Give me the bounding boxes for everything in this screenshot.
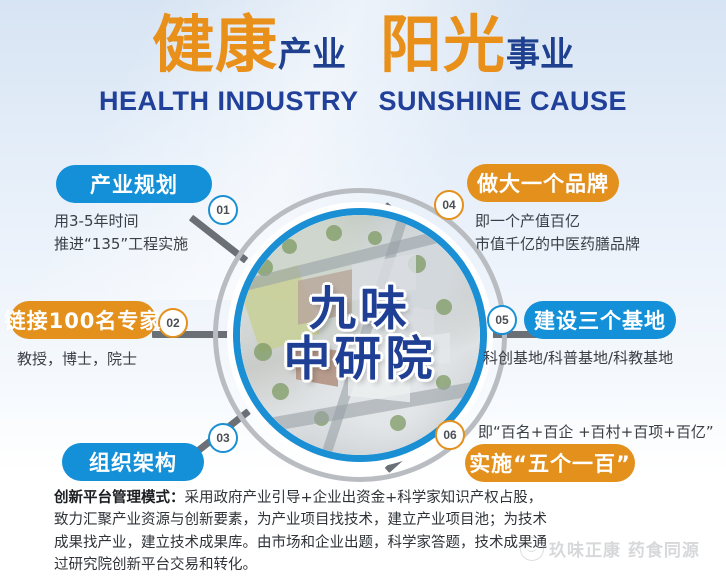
node-caption-01-line-2: 推进“135”工程实施 [54, 233, 188, 256]
photo-tree [254, 343, 272, 361]
node-caption-05-line-1: 科创基地/科普基地/科教基地 [483, 347, 673, 370]
aerial-campus-photo [240, 215, 480, 455]
footer-line-1-rest: 采用政府产业引导+企业出资金+科学家知识产权占股， [185, 490, 543, 506]
node-badge-01-label: 01 [216, 203, 229, 217]
node-badge-02-label: 02 [166, 316, 179, 330]
subtitle-right: SUNSHINE CAUSE [378, 86, 627, 116]
photo-tree [436, 299, 452, 315]
node-caption-06-line-1: 即“百名+百企 +百村+百项+百亿” [478, 421, 714, 444]
subtitle-left: HEALTH INDUSTRY [99, 86, 359, 116]
title-big-2: 阳光 [380, 8, 506, 81]
node-badge-05[interactable]: 05 [487, 305, 517, 335]
node-caption-04-line-2: 市值千亿的中医药膳品牌 [475, 233, 640, 256]
node-caption-01-line-1: 用3-5年时间 [54, 210, 139, 233]
photo-tree [282, 239, 297, 254]
photo-building [416, 333, 450, 368]
footer-line-3: 成果找产业，建立技术成果库。由市场和企业出题，科学家答题，技术成果通 [54, 532, 694, 554]
node-pill-06-label: 实施“五个一百” [469, 448, 631, 478]
photo-tree [326, 225, 342, 241]
node-caption-04-line-1: 即一个产值百亿 [475, 210, 580, 233]
photo-building [348, 338, 410, 403]
node-caption-02-line-1: 教授，博士，院士 [17, 348, 137, 371]
node-pill-02-label: 链接100名专家 [5, 305, 162, 335]
node-badge-06-label: 06 [443, 428, 456, 442]
title-big-1: 健康 [152, 8, 278, 81]
node-pill-06[interactable]: 实施“五个一百” [465, 444, 635, 482]
node-badge-05-label: 05 [495, 313, 508, 327]
photo-tree [368, 231, 382, 245]
node-pill-03[interactable]: 组织架构 [62, 443, 204, 481]
photo-tree [272, 383, 289, 400]
photo-building [296, 343, 338, 386]
footer-line-4: 过研究院创新平台交易和转化。 [54, 554, 694, 576]
poster-header: 健康产业阳光事业 HEALTH INDUSTRYSUNSHINE CAUSE [0, 0, 726, 132]
node-badge-04-label: 04 [442, 198, 455, 212]
node-badge-02[interactable]: 02 [158, 308, 188, 338]
title-small-2: 事业 [506, 35, 574, 75]
node-pill-01-label: 产业规划 [90, 169, 178, 199]
english-subtitle: HEALTH INDUSTRYSUNSHINE CAUSE [0, 86, 726, 117]
title-small-1: 产业 [278, 35, 346, 75]
infographic-poster: 健康产业阳光事业 HEALTH INDUSTRYSUNSHINE CAUSE [0, 0, 726, 576]
main-title: 健康产业阳光事业 [0, 14, 726, 76]
node-badge-03[interactable]: 03 [208, 423, 238, 453]
footer-lead: 创新平台管理模式： [54, 490, 185, 506]
footer-line-2: 致力汇聚产业资源与创新要素，为产业项目找技术，建立产业项目池；为技术 [54, 509, 694, 531]
photo-building [298, 269, 352, 324]
footer-line-1: 创新平台管理模式：采用政府产业引导+企业出资金+科学家知识产权占股， [54, 487, 694, 509]
node-pill-05[interactable]: 建设三个基地 [524, 301, 676, 339]
photo-tree [390, 415, 406, 431]
node-pill-04-label: 做大一个品牌 [477, 168, 609, 198]
node-pill-03-label: 组织架构 [89, 447, 177, 477]
node-pill-05-label: 建设三个基地 [534, 305, 666, 335]
node-pill-01[interactable]: 产业规划 [56, 165, 212, 203]
node-pill-02[interactable]: 链接100名专家 [10, 301, 156, 339]
node-badge-03-label: 03 [216, 431, 229, 445]
node-pill-04[interactable]: 做大一个品牌 [467, 164, 619, 202]
node-badge-06[interactable]: 06 [435, 420, 465, 450]
footer-paragraph: 创新平台管理模式：采用政府产业引导+企业出资金+科学家知识产权占股， 致力汇聚产… [54, 487, 694, 576]
node-badge-04[interactable]: 04 [434, 190, 464, 220]
node-badge-01[interactable]: 01 [208, 195, 238, 225]
